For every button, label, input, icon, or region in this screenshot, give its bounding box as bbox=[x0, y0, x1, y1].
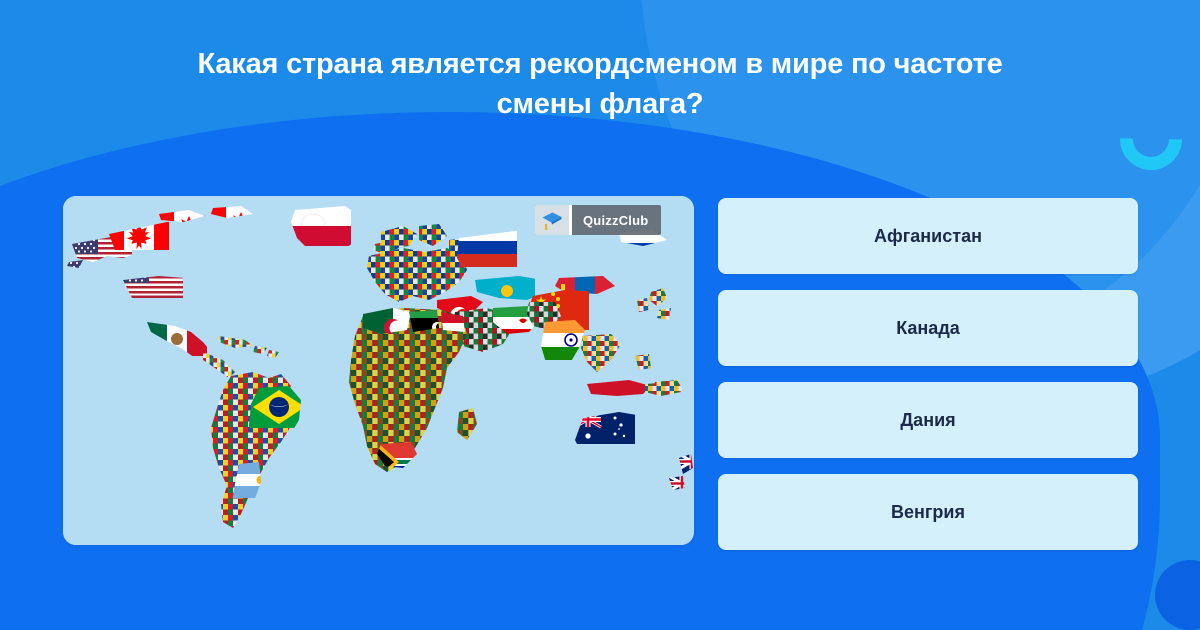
decorative-circle-bottom-right bbox=[1155, 560, 1200, 630]
world-flag-map-image bbox=[63, 196, 694, 545]
answer-options-list: Афганистан Канада Дания Венгрия bbox=[718, 198, 1138, 550]
answer-option-4-label: Венгрия bbox=[891, 502, 965, 523]
quizzclub-watermark: QuizzClub bbox=[535, 205, 661, 235]
question-line-2: смены флага? bbox=[497, 88, 704, 120]
question-line-1: Какая страна является рекордсменом в мир… bbox=[197, 48, 1002, 80]
answer-option-2[interactable]: Канада bbox=[718, 290, 1138, 366]
page-title: Какая страна является рекордсменом в мир… bbox=[60, 44, 1140, 124]
answer-option-2-label: Канада bbox=[896, 318, 960, 339]
answer-option-3[interactable]: Дания bbox=[718, 382, 1138, 458]
answer-option-4[interactable]: Венгрия bbox=[718, 474, 1138, 550]
graduation-cap-icon bbox=[535, 205, 569, 235]
quiz-card-stage: Какая страна является рекордсменом в мир… bbox=[0, 0, 1200, 630]
answer-option-3-label: Дания bbox=[900, 410, 955, 431]
answer-option-1-label: Афганистан bbox=[874, 226, 982, 247]
answer-option-1[interactable]: Афганистан bbox=[718, 198, 1138, 274]
brand-name: QuizzClub bbox=[572, 205, 661, 235]
world-flag-map-card: QuizzClub bbox=[63, 196, 694, 545]
